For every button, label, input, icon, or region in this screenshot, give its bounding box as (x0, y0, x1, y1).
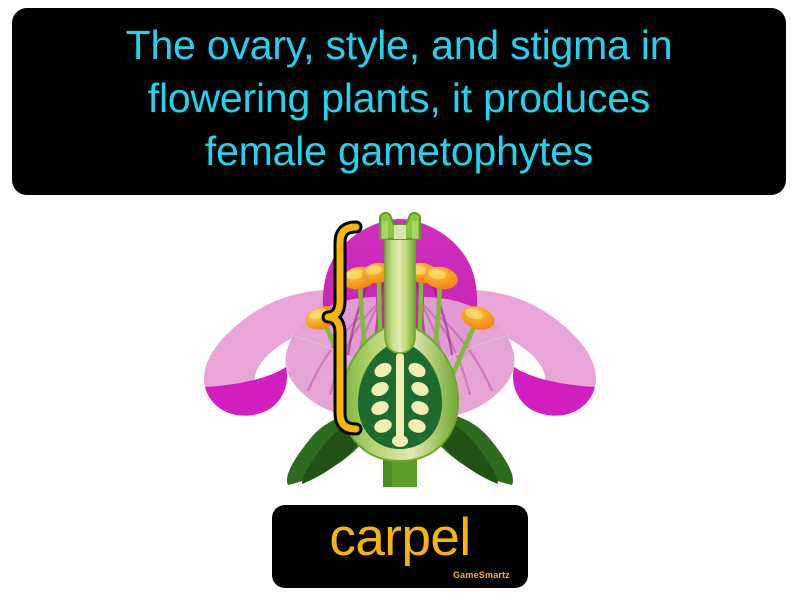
flower-cross-section-illustration (180, 205, 620, 500)
term-card: carpel GameSmartz (272, 505, 528, 588)
ovule (392, 435, 408, 447)
term-label: carpel (272, 511, 528, 564)
stigma-groove (394, 225, 406, 239)
definition-text: The ovary, style, and stigma in flowerin… (126, 19, 673, 179)
placenta (396, 353, 404, 441)
stigma-lobe (412, 221, 418, 239)
style (385, 235, 415, 353)
watermark-label: GameSmartz (453, 570, 510, 580)
stigma-lobe (382, 221, 388, 239)
definition-card: The ovary, style, and stigma in flowerin… (12, 8, 786, 195)
